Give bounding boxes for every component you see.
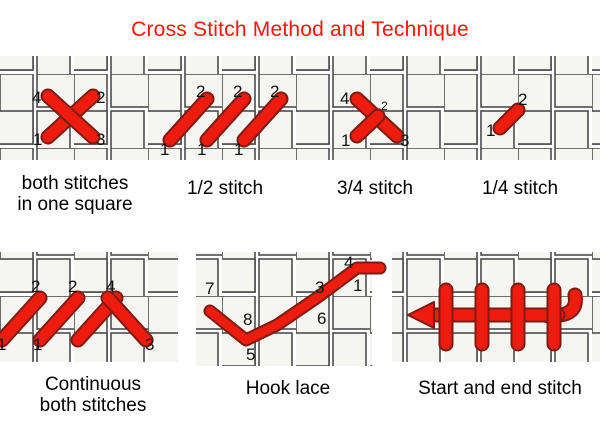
stitch-number: 2: [196, 82, 205, 101]
stitch-number: 4: [106, 277, 115, 296]
stitch-number: 1: [0, 335, 6, 354]
stitch-number: 2: [68, 277, 77, 296]
stitch-number: 1: [341, 131, 350, 150]
stitch-number: 4: [340, 89, 349, 108]
stitch-number: 1: [33, 130, 42, 149]
stitch-number: 1: [33, 335, 42, 354]
stitch-number: 1: [353, 276, 362, 295]
diagram-canvas: Cross Stitch Method and Technique .wv{fi…: [0, 0, 600, 440]
stitch-number: 1: [197, 140, 206, 159]
stitch-number: 4: [32, 88, 41, 107]
caption-both-stitches-one-square: both stitches in one square: [0, 173, 150, 216]
stitch-number: 2: [270, 82, 279, 101]
stitch-number: 4: [344, 253, 353, 272]
stitch-number: 2: [96, 88, 105, 107]
caption-three-quarter-stitch: 3/4 stitch: [310, 178, 440, 199]
stitch-number: 5: [246, 345, 255, 364]
caption-start-and-end-stitch: Start and end stitch: [395, 378, 600, 399]
stitch-number: 1: [234, 140, 243, 159]
stitch-number: 6: [317, 309, 326, 328]
stitch-number: 2: [381, 99, 388, 113]
stitch-number: 2: [31, 277, 40, 296]
caption-hook-lace: Hook lace: [218, 378, 358, 399]
caption-half-stitch: 1/2 stitch: [160, 178, 290, 199]
stitch-number: 1: [160, 140, 169, 159]
stitch-number: 3: [145, 335, 154, 354]
stitch-number: 3: [315, 278, 324, 297]
caption-continuous-both-stitches: Continuous both stitches: [8, 374, 178, 417]
stitch-number: 2: [518, 90, 527, 109]
stitch-number: 1: [486, 121, 495, 140]
stitch-number: 3: [96, 130, 105, 149]
stitch-number: 8: [243, 310, 252, 329]
stitch-number: 3: [400, 131, 409, 150]
stitch-number: 2: [233, 82, 242, 101]
stitch-number: 7: [205, 279, 214, 298]
caption-quarter-stitch: 1/4 stitch: [455, 178, 585, 199]
